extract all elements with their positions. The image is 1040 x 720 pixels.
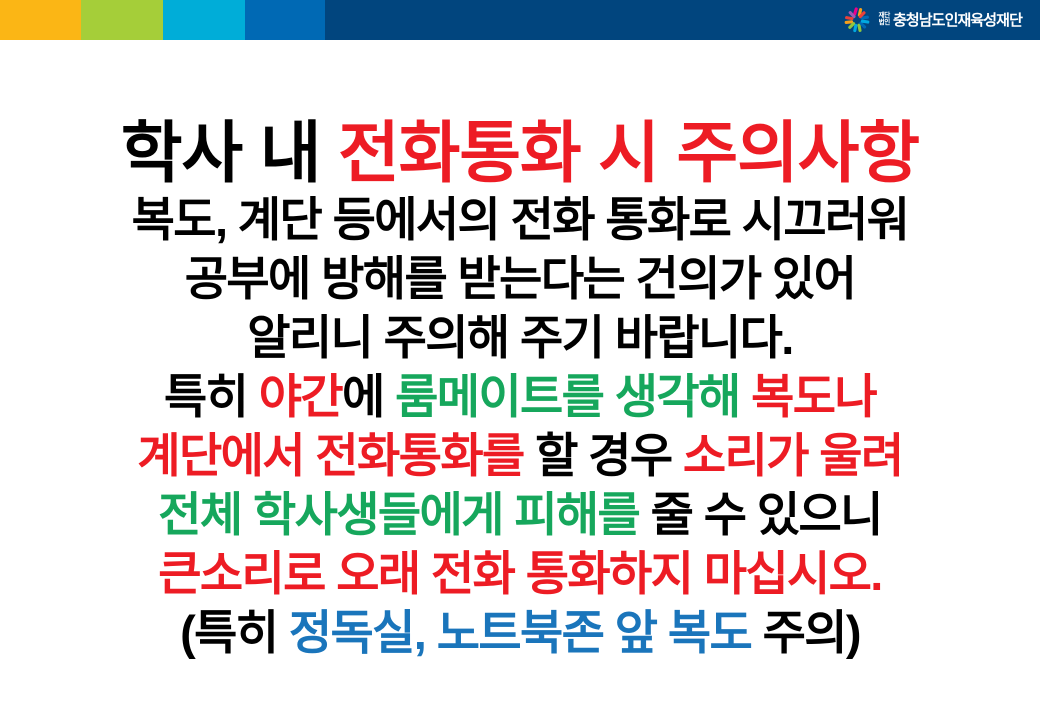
notice-line-3: 알리니 주의해 주기 바랍니다. — [0, 308, 1040, 367]
logo-corp-type-line2: 법인 — [879, 20, 890, 27]
banner-band-blue — [245, 0, 325, 40]
notice-line-5-segment-3: 소리가 울려 — [683, 429, 903, 482]
notice-line-5: 계단에서 전화통화를 할 경우 소리가 울려 — [0, 426, 1040, 485]
notice-line-5-segment-2: 할 경우 — [535, 429, 683, 482]
notice-line-7-segment-1: 큰소리로 오래 전화 통화하지 마십시오. — [158, 547, 882, 600]
banner-band-cyan — [163, 0, 245, 40]
notice-line-1: 복도, 계단 등에서의 전화 통화로 시끄러워 — [0, 190, 1040, 249]
banner-band-orange — [0, 0, 81, 40]
pinwheel-logo-icon — [842, 5, 872, 35]
notice-line-6: 전체 학사생들에게 피해를 줄 수 있으니 — [0, 485, 1040, 544]
notice-line-5-segment-1: 계단에서 전화통화를 — [137, 429, 535, 482]
notice-line-2-segment-1: 공부에 방해를 받는다는 건의가 있어 — [185, 252, 855, 305]
notice-line-4-segment-3: 에 — [342, 370, 395, 423]
organization-logo: 재단 법인 충청남도인재육성재단 — [842, 3, 1022, 37]
title-segment-2: 전화통화 시 주의사항 — [338, 116, 919, 191]
notice-line-4-segment-1: 특히 — [164, 370, 259, 423]
logo-organization-name: 충청남도인재육성재단 — [893, 13, 1022, 28]
notice-line-6-segment-2: 줄 수 있으니 — [651, 488, 882, 541]
notice-line-4: 특히 야간에 룸메이트를 생각해 복도나 — [0, 367, 1040, 426]
notice-line-2: 공부에 방해를 받는다는 건의가 있어 — [0, 249, 1040, 308]
page-title: 학사 내 전화통화 시 주의사항 — [0, 117, 1040, 191]
notice-line-1-segment-1: 복도, 계단 등에서의 전화 통화로 시끄러워 — [132, 193, 909, 246]
notice-line-8: (특히 정독실, 노트북존 앞 복도 주의) — [0, 603, 1040, 662]
title-segment-1: 학사 내 — [121, 116, 338, 191]
notice-line-8-segment-3: 주의) — [751, 606, 860, 659]
logo-corporation-type: 재단 법인 — [879, 13, 890, 27]
notice-line-8-segment-2: 정독실, 노트북존 앞 복도 — [289, 606, 751, 659]
notice-line-7: 큰소리로 오래 전화 통화하지 마십시오. — [0, 544, 1040, 603]
notice-body: 복도, 계단 등에서의 전화 통화로 시끄러워공부에 방해를 받는다는 건의가 … — [0, 190, 1040, 662]
notice-line-4-segment-4: 룸메이트를 생각해 — [395, 370, 751, 423]
logo-wordmark: 재단 법인 충청남도인재육성재단 — [879, 13, 1022, 28]
notice-line-4-segment-2: 야간 — [259, 370, 342, 423]
notice-line-4-segment-5: 복도나 — [751, 370, 876, 423]
notice-line-3-segment-1: 알리니 주의해 주기 바랍니다. — [247, 311, 793, 364]
notice-line-8-segment-1: (특히 — [180, 606, 289, 659]
banner-band-green — [81, 0, 163, 40]
notice-line-6-segment-1: 전체 학사생들에게 피해를 — [158, 488, 650, 541]
